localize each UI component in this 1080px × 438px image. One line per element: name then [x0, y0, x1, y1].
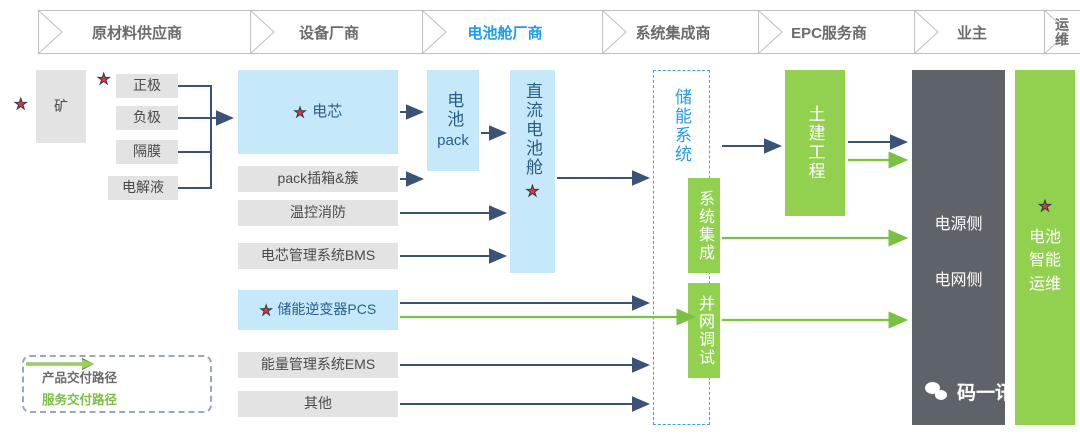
supply-chain-diagram: 原材料供应商 设备厂商 电池舱厂商 系统集成商 [0, 0, 1080, 438]
connector-layer [0, 0, 1080, 438]
